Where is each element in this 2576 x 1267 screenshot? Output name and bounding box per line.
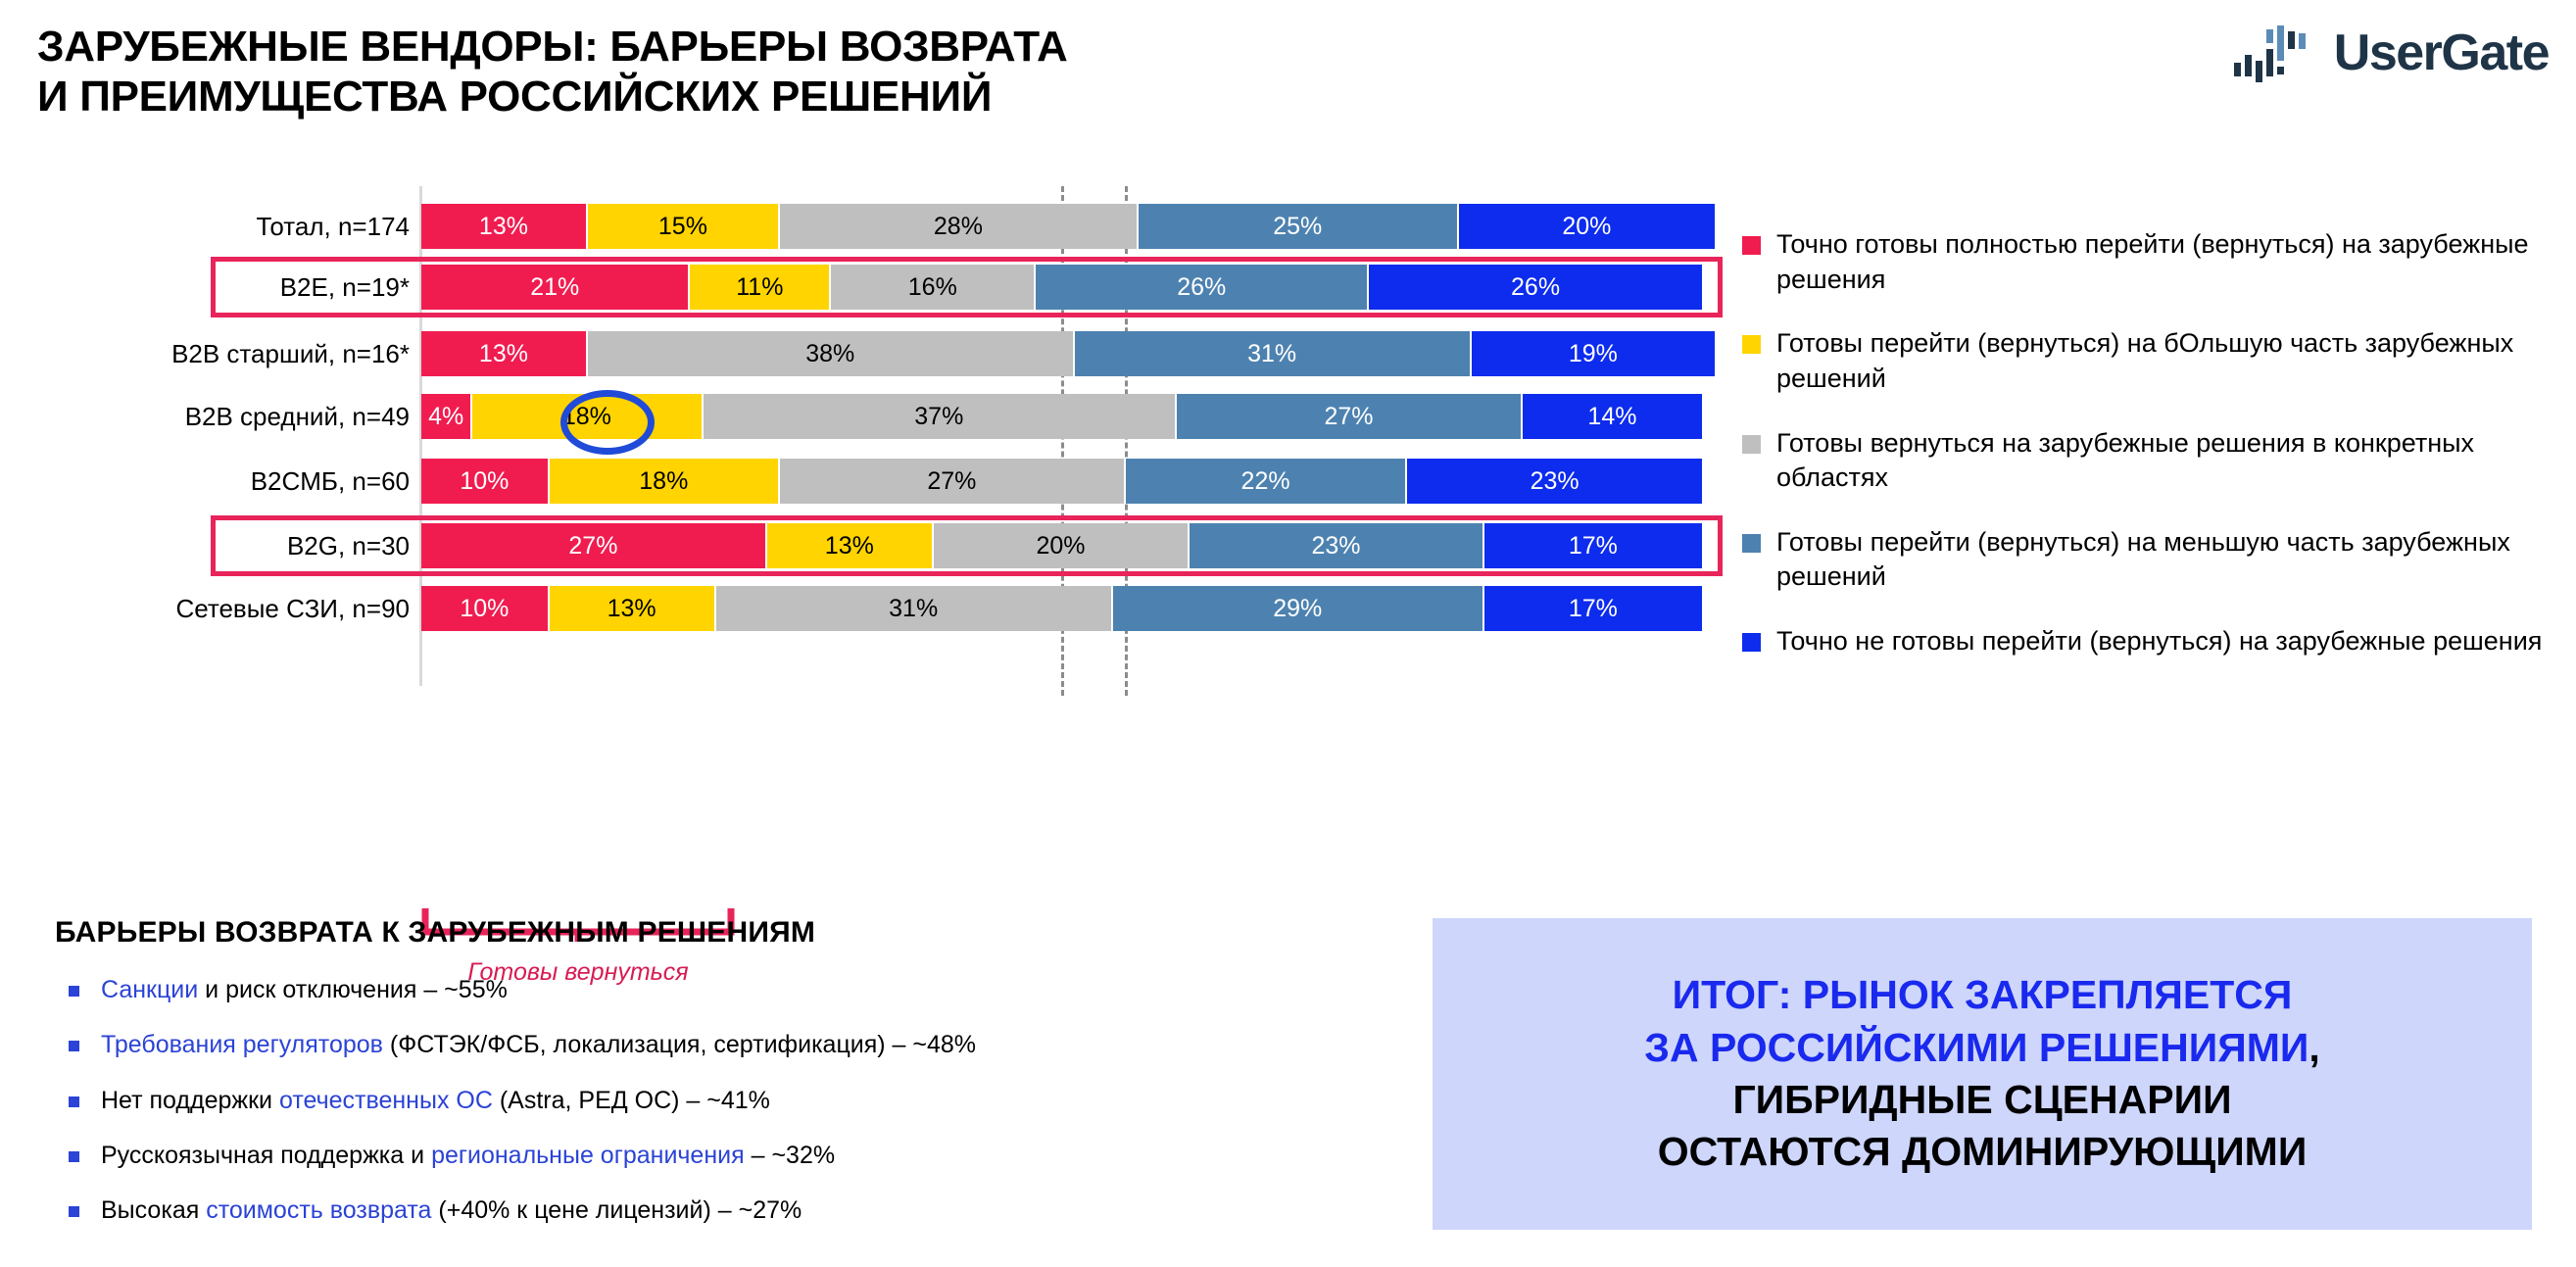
- chart-segment: 26%: [1369, 265, 1702, 310]
- list-item: Требования регуляторов (ФСТЭК/ФСБ, локал…: [55, 1030, 1348, 1060]
- chart-segment: 4%: [421, 394, 472, 439]
- legend-swatch-icon: [1742, 633, 1761, 652]
- chart-bar: 21%11%16%26%26%: [421, 265, 1702, 310]
- chart-segment: 26%: [1036, 265, 1369, 310]
- legend-swatch-icon: [1742, 534, 1761, 553]
- chart-segment: 22%: [1126, 459, 1408, 504]
- chart-row: Сетевые СЗИ, n=9010%13%31%29%17%: [0, 586, 1754, 631]
- bullet-square-icon: [69, 1206, 79, 1217]
- chart-bar: 13%38%31%19%: [421, 331, 1715, 376]
- chart-row-label: Тотал, n=174: [86, 212, 410, 242]
- legend-label: Точно готовы полностью перейти (вернутьс…: [1776, 227, 2546, 297]
- chart-segment: 10%: [421, 586, 550, 631]
- chart-bar: 27%13%20%23%17%: [421, 523, 1702, 568]
- legend-swatch-icon: [1742, 335, 1761, 354]
- chart-row: B2B средний, n=494%18%37%27%14%: [0, 394, 1754, 439]
- chart-row: B2G, n=3027%13%20%23%17%: [0, 523, 1754, 568]
- chart-segment: 20%: [934, 523, 1190, 568]
- chart-row: B2E, n=19*21%11%16%26%26%: [0, 265, 1754, 310]
- chart-row-label: B2G, n=30: [86, 531, 410, 561]
- legend-swatch-icon: [1742, 236, 1761, 255]
- legend-label: Готовы вернуться на зарубежные решения в…: [1776, 426, 2546, 496]
- legend-swatch-icon: [1742, 435, 1761, 454]
- conclusion-box: ИТОГ: РЫНОК ЗАКРЕПЛЯЕТСЯЗА РОССИЙСКИМИ Р…: [1433, 918, 2532, 1230]
- chart-segment: 17%: [1484, 586, 1702, 631]
- chart-row-label: B2E, n=19*: [86, 272, 410, 303]
- slide-canvas: ЗАРУБЕЖНЫЕ ВЕНДОРЫ: БАРЬЕРЫ ВОЗВРАТА И П…: [0, 0, 2576, 1267]
- chart-segment: 25%: [1139, 204, 1459, 249]
- legend-label: Готовы перейти (вернуться) на меньшую ча…: [1776, 525, 2546, 595]
- chart-segment: 38%: [588, 331, 1075, 376]
- chart-legend: Точно готовы полностью перейти (вернутьс…: [1742, 227, 2546, 689]
- chart-segment: 19%: [1472, 331, 1715, 376]
- list-item-text: Нет поддержки отечественных ОС (Astra, Р…: [101, 1086, 770, 1116]
- legend-label: Точно не готовы перейти (вернуться) на з…: [1776, 624, 2542, 659]
- usergate-logo: UserGate: [2234, 24, 2549, 82]
- legend-item: Точно готовы полностью перейти (вернутьс…: [1742, 227, 2546, 297]
- list-item-text: Русскоязычная поддержка и региональные о…: [101, 1141, 835, 1171]
- chart-segment: 23%: [1407, 459, 1702, 504]
- chart-segment: 23%: [1190, 523, 1484, 568]
- bullet-square-icon: [69, 1041, 79, 1051]
- legend-item: Готовы перейти (вернуться) на бОльшую ча…: [1742, 326, 2546, 396]
- barriers-list: Санкции и риск отключения – ~55%Требован…: [55, 975, 1348, 1226]
- chart-segment: 11%: [690, 265, 831, 310]
- chart-segment: 27%: [1177, 394, 1523, 439]
- chart-segment: 10%: [421, 459, 550, 504]
- list-item: Нет поддержки отечественных ОС (Astra, Р…: [55, 1086, 1348, 1116]
- chart-segment: 14%: [1523, 394, 1702, 439]
- conclusion-text: ИТОГ: РЫНОК ЗАКРЕПЛЯЕТСЯЗА РОССИЙСКИМИ Р…: [1611, 969, 2353, 1178]
- chart-bar: 10%13%31%29%17%: [421, 586, 1702, 631]
- bullet-square-icon: [69, 1151, 79, 1162]
- chart-segment: 37%: [704, 394, 1178, 439]
- chart-segment: 29%: [1113, 586, 1484, 631]
- legend-item: Готовы вернуться на зарубежные решения в…: [1742, 426, 2546, 496]
- chart-row-label: B2B старший, n=16*: [86, 339, 410, 369]
- stacked-bar-chart: Тотал, n=17413%15%28%25%20%B2E, n=19*21%…: [0, 186, 1754, 715]
- chart-row: Тотал, n=17413%15%28%25%20%: [0, 204, 1754, 249]
- chart-row: B2CМБ, n=6010%18%27%22%23%: [0, 459, 1754, 504]
- list-item-text: Требования регуляторов (ФСТЭК/ФСБ, локал…: [101, 1030, 976, 1060]
- legend-item: Точно не готовы перейти (вернуться) на з…: [1742, 624, 2546, 659]
- chart-segment: 13%: [767, 523, 934, 568]
- chart-segment: 31%: [1075, 331, 1472, 376]
- legend-label: Готовы перейти (вернуться) на бОльшую ча…: [1776, 326, 2546, 396]
- barriers-block: БАРЬЕРЫ ВОЗВРАТА К ЗАРУБЕЖНЫМ РЕШЕНИЯМ С…: [55, 916, 1348, 1250]
- chart-segment: 20%: [1459, 204, 1715, 249]
- bullet-square-icon: [69, 986, 79, 997]
- chart-segment: 18%: [550, 459, 780, 504]
- chart-row-label: B2CМБ, n=60: [86, 466, 410, 497]
- list-item-text: Высокая стоимость возврата (+40% к цене …: [101, 1195, 802, 1226]
- chart-segment: 21%: [421, 265, 690, 310]
- chart-segment: 13%: [550, 586, 716, 631]
- equalizer-bars-icon: [2234, 24, 2320, 82]
- chart-segment: 27%: [421, 523, 767, 568]
- chart-segment: 17%: [1484, 523, 1702, 568]
- chart-row-label: Сетевые СЗИ, n=90: [86, 594, 410, 624]
- bullet-square-icon: [69, 1096, 79, 1107]
- legend-item: Готовы перейти (вернуться) на меньшую ча…: [1742, 525, 2546, 595]
- chart-row-label: B2B средний, n=49: [86, 402, 410, 432]
- chart-segment: 28%: [780, 204, 1139, 249]
- circled-value-annotation: [560, 390, 655, 455]
- chart-segment: 13%: [421, 204, 588, 249]
- logo-wordmark: UserGate: [2334, 27, 2549, 78]
- chart-segment: 27%: [780, 459, 1126, 504]
- chart-bar: 10%18%27%22%23%: [421, 459, 1702, 504]
- chart-segment: 15%: [588, 204, 780, 249]
- chart-segment: 13%: [421, 331, 588, 376]
- page-title: ЗАРУБЕЖНЫЕ ВЕНДОРЫ: БАРЬЕРЫ ВОЗВРАТА И П…: [37, 22, 1458, 122]
- list-item: Высокая стоимость возврата (+40% к цене …: [55, 1195, 1348, 1226]
- chart-segment: 31%: [716, 586, 1113, 631]
- list-item-text: Санкции и риск отключения – ~55%: [101, 975, 508, 1005]
- chart-row: B2B старший, n=16*13%38%31%19%: [0, 331, 1754, 376]
- barriers-title: БАРЬЕРЫ ВОЗВРАТА К ЗАРУБЕЖНЫМ РЕШЕНИЯМ: [55, 916, 1348, 950]
- list-item: Санкции и риск отключения – ~55%: [55, 975, 1348, 1005]
- chart-segment: 16%: [831, 265, 1036, 310]
- chart-bar: 13%15%28%25%20%: [421, 204, 1715, 249]
- list-item: Русскоязычная поддержка и региональные о…: [55, 1141, 1348, 1171]
